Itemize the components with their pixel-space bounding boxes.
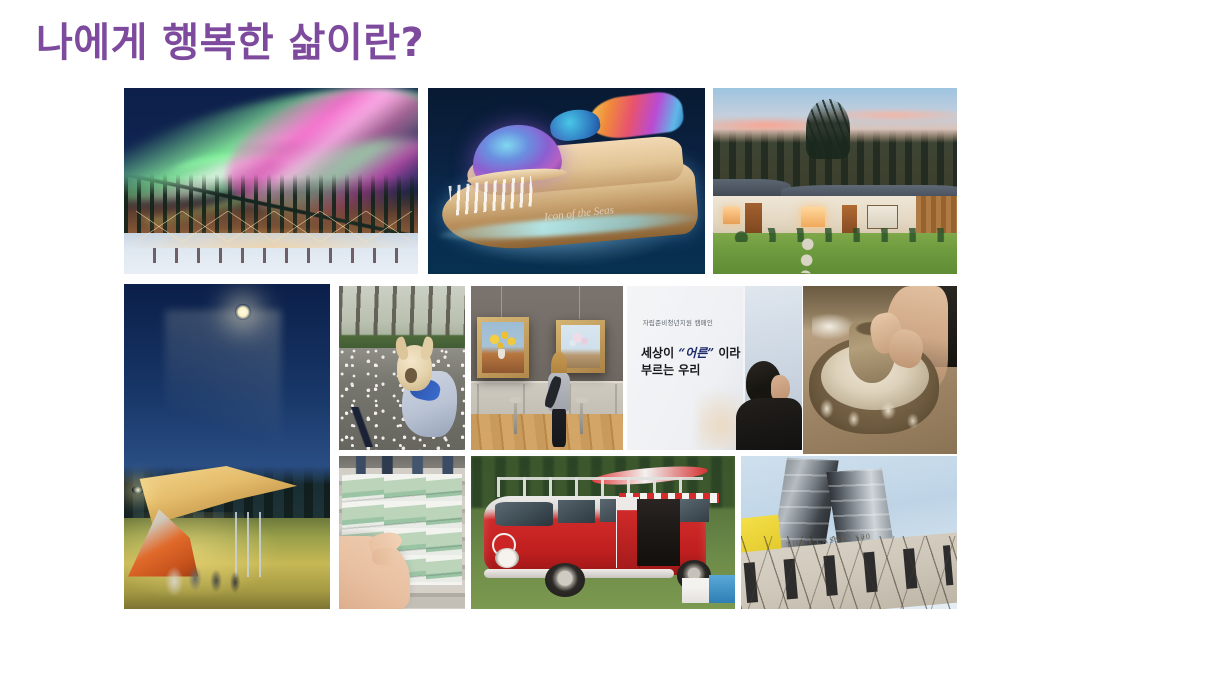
headline-quoted-word: “어른” xyxy=(678,346,714,360)
vintage-vw-camper-van-photo xyxy=(471,456,735,609)
people-silhouettes xyxy=(153,248,403,263)
the-classic-500-towers-photo: THE CLASSIC 500 xyxy=(741,456,957,609)
painted-vase xyxy=(498,349,505,359)
dog-snout xyxy=(405,368,418,383)
night-camping-tent-photo xyxy=(124,284,330,609)
dog-on-petal-path-photo xyxy=(339,286,465,450)
dog-leash xyxy=(344,407,415,446)
poster-kicker-text: 자립준비청년지원 캠페인 xyxy=(643,317,713,327)
window-left xyxy=(723,207,740,224)
windshield xyxy=(495,502,553,526)
pottery-wheel-photo xyxy=(803,286,957,454)
page-title: 나에게 행복한 삶이란? xyxy=(36,18,424,68)
clay-slip-debris xyxy=(812,390,935,437)
teepee-row xyxy=(136,211,412,243)
cruise-ship-photo: Icon of the Seas xyxy=(428,88,705,274)
youth-support-campaign-poster: 자립준비청년지원 캠페인 세상이 “어른” 이라 부르는 우리 xyxy=(627,286,802,450)
man-shoulders xyxy=(736,398,803,450)
headline-line1-post: 이라 xyxy=(714,346,740,360)
art-museum-visitor-photo xyxy=(471,286,623,450)
moon xyxy=(235,304,251,320)
man-face xyxy=(771,375,790,401)
museum-visitor xyxy=(547,352,571,447)
poster-headline: 세상이 “어른” 이라 부르는 우리 xyxy=(641,345,740,379)
tall-tree xyxy=(806,99,850,159)
stepping-stone-path xyxy=(795,235,841,274)
headline-line1-pre: 세상이 xyxy=(641,346,678,360)
presentation-slide: 나에게 행복한 삶이란? xyxy=(0,0,1216,684)
visitor-legs xyxy=(552,409,566,447)
hanok-house-sunset-photo xyxy=(713,88,957,274)
window-center xyxy=(801,207,825,227)
open-door-interior xyxy=(637,499,679,566)
window-right xyxy=(867,205,899,229)
painting-hanging-wire-right xyxy=(579,286,580,319)
passerby-legs xyxy=(349,456,457,474)
blue-bag xyxy=(709,575,735,603)
barrier-post-right xyxy=(580,401,583,434)
barrier-post-left xyxy=(514,401,517,434)
side-window-rear xyxy=(680,499,709,522)
camping-lantern xyxy=(132,486,144,494)
sunflower-painting xyxy=(482,322,524,373)
bare-branches xyxy=(741,536,957,609)
painting-hanging-wire-left xyxy=(501,286,502,319)
side-window-front xyxy=(558,500,595,523)
watercolor-paintings-on-steps-photo xyxy=(339,456,465,609)
painting-frame-left xyxy=(477,317,529,378)
headlight xyxy=(495,548,519,568)
headline-line2: 부르는 우리 xyxy=(641,363,700,377)
white-cooler xyxy=(682,578,711,602)
front-wheel xyxy=(545,563,585,597)
camping-gear xyxy=(161,560,256,596)
aurora-borealis-teepee-camp-photo xyxy=(124,88,418,274)
